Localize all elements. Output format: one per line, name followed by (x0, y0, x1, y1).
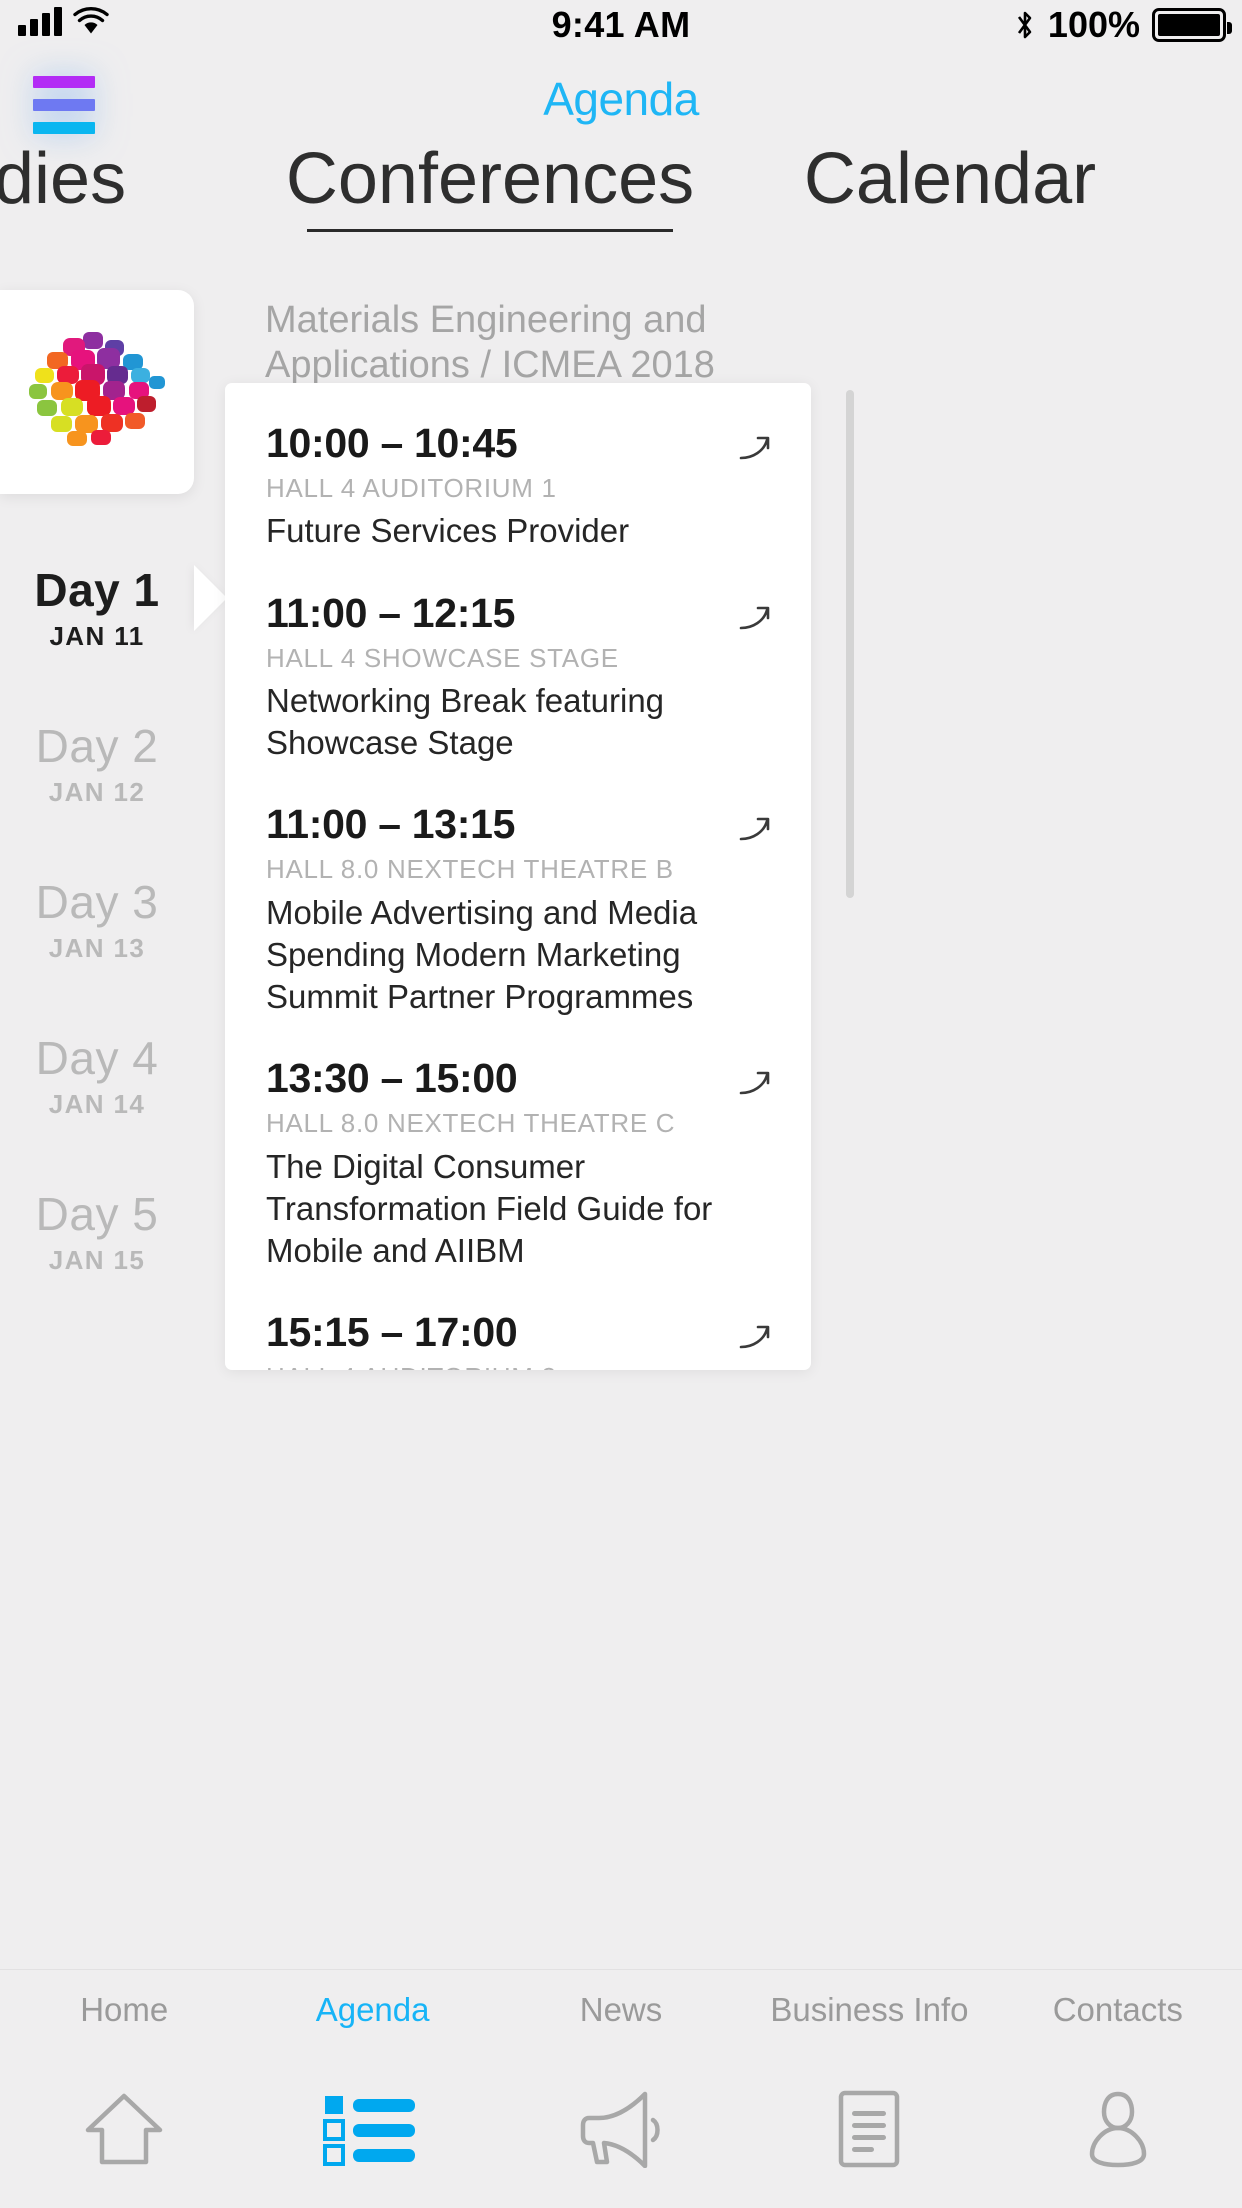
session-item[interactable]: 15:15 – 17:00 HALL 4 AUDITORIUM 2 Embrac… (266, 1310, 771, 1370)
session-hall: HALL 4 SHOWCASE STAGE (266, 643, 771, 674)
open-session-arrow-icon[interactable] (733, 1316, 777, 1360)
session-hall: HALL 8.0 NEXTECH THEATRE C (266, 1108, 771, 1139)
session-title: Networking Break featuring Showcase Stag… (266, 680, 771, 764)
bluetooth-icon (1014, 8, 1036, 42)
day-list[interactable]: Day 1 JAN 11 Day 2 JAN 12 Day 3 JAN 13 D… (0, 564, 194, 1344)
day-date: JAN 13 (0, 933, 194, 964)
day-date: JAN 15 (0, 1245, 194, 1276)
vertical-scrollbar[interactable] (846, 390, 854, 898)
day-rail: Day 1 JAN 11 Day 2 JAN 12 Day 3 JAN 13 D… (0, 290, 194, 1344)
tab-label: Contacts (1053, 1992, 1183, 2029)
day-name: Day 5 (0, 1188, 194, 1241)
session-list: 10:00 – 10:45 HALL 4 AUDITORIUM 1 Future… (225, 383, 811, 1370)
tab-label: News (580, 1992, 663, 2029)
day-item-5[interactable]: Day 5 JAN 15 (0, 1188, 194, 1344)
agenda-card: 10:00 – 10:45 HALL 4 AUDITORIUM 1 Future… (225, 383, 811, 1370)
section-title: Materials Engineering and Applications /… (265, 298, 885, 388)
session-time: 11:00 – 13:15 (266, 802, 771, 847)
day-date: JAN 11 (0, 621, 194, 652)
day-item-4[interactable]: Day 4 JAN 14 (0, 1032, 194, 1188)
status-bar-right: 100% (1014, 4, 1226, 46)
day-item-3[interactable]: Day 3 JAN 13 (0, 876, 194, 1032)
tab-calendar[interactable]: Calendar (720, 142, 1180, 232)
day-name: Day 2 (0, 720, 194, 773)
tab-studies[interactable]: udies (0, 142, 260, 232)
session-item[interactable]: 11:00 – 12:15 HALL 4 SHOWCASE STAGE Netw… (266, 591, 771, 765)
segment-tab-strip[interactable]: udies Conferences Calendar (0, 142, 1242, 252)
session-time: 15:15 – 17:00 (266, 1310, 771, 1355)
day-date: JAN 14 (0, 1089, 194, 1120)
document-icon (828, 2090, 910, 2168)
status-bar: 9:41 AM 100% (0, 0, 1242, 62)
session-item[interactable]: 13:30 – 15:00 HALL 8.0 NEXTECH THEATRE C… (266, 1056, 771, 1272)
bottom-tab-bar: Home Agenda News (0, 1969, 1242, 2208)
tab-home[interactable]: Home (0, 1970, 248, 2208)
battery-full-icon (1152, 8, 1226, 42)
tab-conferences[interactable]: Conferences (260, 142, 720, 232)
conference-logo (0, 290, 194, 494)
tab-agenda[interactable]: Agenda (248, 1970, 496, 2208)
tab-contacts[interactable]: Contacts (994, 1970, 1242, 2208)
open-session-arrow-icon[interactable] (733, 1062, 777, 1106)
session-item[interactable]: 11:00 – 13:15 HALL 8.0 NEXTECH THEATRE B… (266, 802, 771, 1018)
day-item-1[interactable]: Day 1 JAN 11 (0, 564, 194, 720)
open-session-arrow-icon[interactable] (733, 597, 777, 641)
day-name: Day 3 (0, 876, 194, 929)
session-time: 13:30 – 15:00 (266, 1056, 771, 1101)
person-icon (1080, 2090, 1156, 2168)
open-session-arrow-icon[interactable] (733, 427, 777, 471)
navigation-bar: Agenda (0, 62, 1242, 144)
session-item[interactable]: 10:00 – 10:45 HALL 4 AUDITORIUM 1 Future… (266, 421, 771, 553)
session-time: 10:00 – 10:45 (266, 421, 771, 466)
session-hall: HALL 8.0 NEXTECH THEATRE B (266, 854, 771, 885)
day-name: Day 4 (0, 1032, 194, 1085)
home-icon (80, 2090, 168, 2168)
session-time: 11:00 – 12:15 (266, 591, 771, 636)
tab-label: Home (80, 1992, 168, 2029)
session-hall: HALL 4 AUDITORIUM 2 (266, 1362, 771, 1370)
session-hall: HALL 4 AUDITORIUM 1 (266, 473, 771, 504)
agenda-list-icon (323, 2090, 423, 2168)
tab-label: Agenda (316, 1992, 430, 2029)
battery-percent-label: 100% (1048, 4, 1140, 46)
session-title: Future Services Provider (266, 510, 771, 552)
tab-news[interactable]: News (497, 1970, 745, 2208)
megaphone-icon (575, 2090, 667, 2168)
session-title: Mobile Advertising and Media Spending Mo… (266, 892, 771, 1019)
tab-label: Business Info (770, 1992, 968, 2029)
day-item-2[interactable]: Day 2 JAN 12 (0, 720, 194, 876)
day-name: Day 1 (0, 564, 194, 617)
open-session-arrow-icon[interactable] (733, 808, 777, 852)
page-title: Agenda (0, 72, 1242, 126)
session-title: The Digital Consumer Transformation Fiel… (266, 1146, 771, 1273)
tab-business-info[interactable]: Business Info (745, 1970, 993, 2208)
day-date: JAN 12 (0, 777, 194, 808)
selected-day-pointer (194, 565, 227, 631)
